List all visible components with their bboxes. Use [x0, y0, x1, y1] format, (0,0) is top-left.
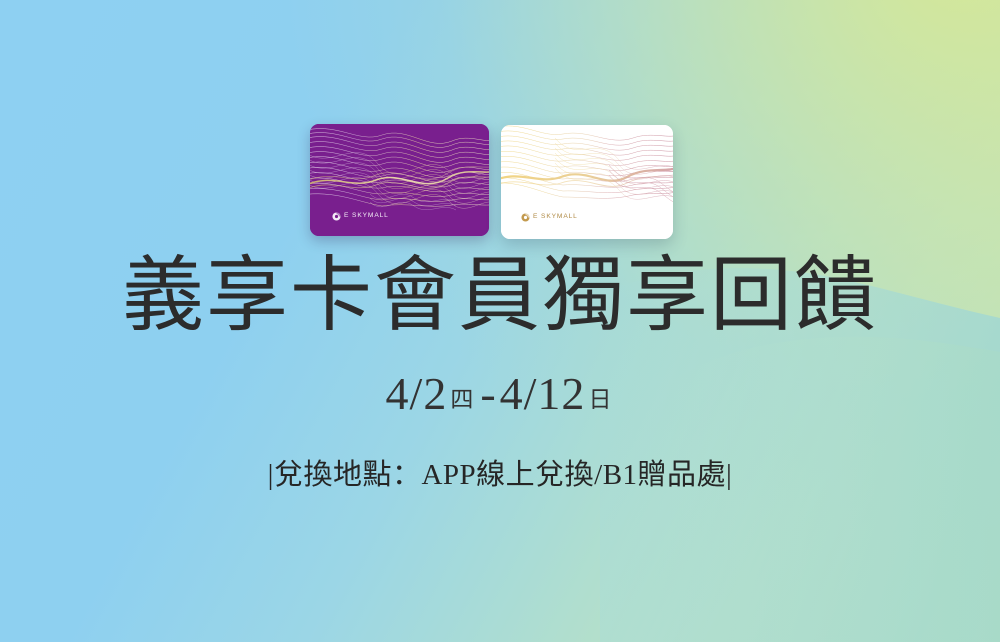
skymall-emblem-icon [332, 212, 341, 221]
date-separator: - [476, 368, 499, 419]
end-weekday: 日 [585, 387, 614, 412]
purple-card-logo: E SKYMALL [332, 212, 389, 221]
white-card-logo: E SKYMALL [521, 213, 578, 222]
skymall-emblem-icon [521, 213, 530, 222]
start-date: 4/2 [386, 368, 448, 419]
white-membership-card: E SKYMALL [501, 125, 673, 239]
promo-date-range: 4/2四-4/12日 [0, 371, 1000, 417]
page-title: 義享卡會員獨享回饋 [0, 255, 1000, 337]
redemption-location-text: |兌換地點：APP線上兌換/B1贈品處| [0, 461, 1000, 490]
promo-banner: E SKYMALL [0, 0, 1000, 642]
purple-membership-card: E SKYMALL [310, 124, 489, 236]
white-card-logo-text: E SKYMALL [533, 214, 578, 221]
white-card-wave-art [501, 125, 673, 239]
purple-card-wave-art [310, 124, 489, 236]
end-date: 4/12 [500, 368, 586, 419]
start-weekday: 四 [447, 387, 476, 412]
purple-card-logo-text: E SKYMALL [344, 213, 389, 220]
